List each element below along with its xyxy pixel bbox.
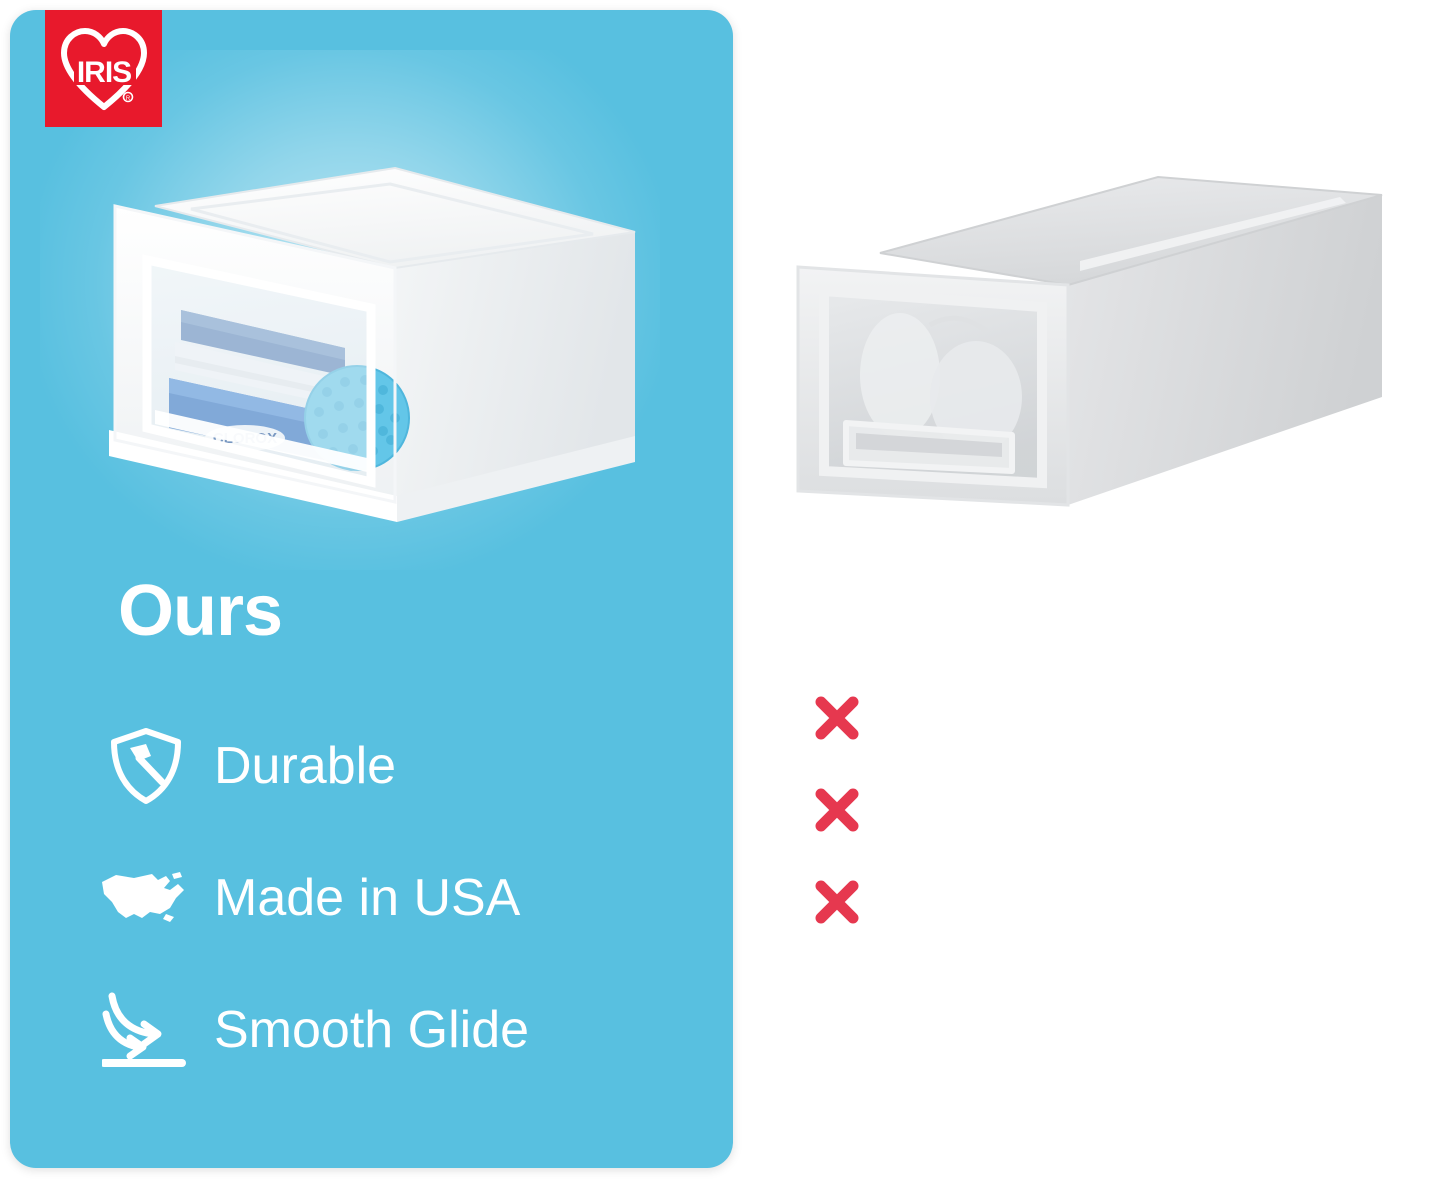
usa-map-icon [100, 852, 192, 944]
feature-label-durable: Durable [214, 740, 396, 792]
svg-text:IRIS: IRIS [76, 56, 130, 89]
shield-hammer-icon [100, 720, 192, 812]
iris-brand-logo: IRIS R [45, 10, 162, 127]
others-product-image [780, 175, 1400, 540]
drawback-item-rough-glide: Rough Glide [808, 856, 1408, 948]
red-x-icon [808, 689, 866, 747]
smooth-glide-arrows-icon [100, 984, 192, 1076]
red-x-icon [808, 781, 866, 839]
svg-text:R: R [125, 96, 130, 102]
drawback-label-rough-glide: Rough Glide [894, 874, 1205, 930]
drawback-item-foreign-made: Foreign Made [808, 764, 1408, 856]
ours-heading: Ours [118, 575, 282, 647]
others-heading: Others [812, 575, 1038, 647]
comparison-infographic: IRIS R [0, 0, 1445, 1188]
drawback-item-fragile: Fragile [808, 672, 1408, 764]
feature-label-smooth-glide: Smooth Glide [214, 1004, 529, 1056]
feature-item-made-in-usa: Made in USA [100, 832, 700, 964]
drawback-label-fragile: Fragile [894, 690, 1065, 746]
ours-feature-list: Durable Made in USA [100, 700, 700, 1096]
drawback-label-foreign-made: Foreign Made [894, 782, 1240, 838]
red-x-icon [808, 873, 866, 931]
feature-label-made-in-usa: Made in USA [214, 872, 520, 924]
feature-item-durable: Durable [100, 700, 700, 832]
feature-item-smooth-glide: Smooth Glide [100, 964, 700, 1096]
ours-product-image: CLOROX [95, 110, 670, 540]
others-drawback-list: Fragile Foreign Made Rough Glide [808, 672, 1408, 948]
